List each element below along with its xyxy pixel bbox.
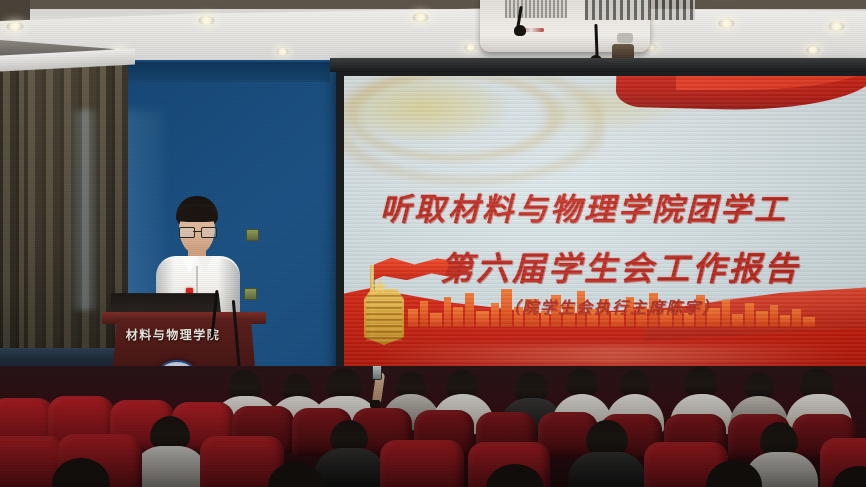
audience-shoulders <box>568 452 646 487</box>
downlight-icon <box>276 48 289 55</box>
downlight-icon <box>828 22 845 31</box>
auditorium-seat <box>380 440 464 487</box>
downlight-icon <box>464 44 477 51</box>
wall-outlet-plate <box>244 288 257 300</box>
downlight-icon <box>6 22 24 31</box>
slide-title-line-1: 听取材料与物理学院团学工 <box>380 184 788 229</box>
projection-screen: 听取材料与物理学院团学工 第六届学生会工作报告 （院学生会执行主席陈宇） <box>344 76 866 379</box>
smartphone <box>372 366 382 380</box>
cable-knob <box>514 25 526 36</box>
downlight-icon <box>806 46 820 54</box>
downlight-icon <box>412 13 429 22</box>
slide-subtitle-line: （院学生会执行主席陈宇） <box>504 294 720 318</box>
glasses-icon <box>179 227 215 236</box>
ceiling-sensor <box>617 33 633 43</box>
ceiling-dark-strip <box>0 0 866 9</box>
projector-grill <box>505 0 567 18</box>
wall-outlet-plate <box>246 229 259 241</box>
downlight-icon <box>198 16 215 25</box>
slide-text-block: 听取材料与物理学院团学工 第六届学生会工作报告 （院学生会执行主席陈宇） <box>344 76 866 379</box>
projector-vent <box>585 0 695 20</box>
downlight-icon <box>718 19 735 28</box>
curtain-light-gap <box>70 110 100 310</box>
wristwatch <box>370 400 380 408</box>
audience-shoulders <box>132 446 208 487</box>
podium-label: 材料与物理学院 <box>112 326 234 343</box>
projection-screen-top-bar <box>330 58 866 72</box>
audience-area <box>0 366 866 487</box>
slide-title-line-2: 第六届学生会工作报告 <box>440 242 800 290</box>
lecture-hall-photo: 听取材料与物理学院团学工 第六届学生会工作报告 （院学生会执行主席陈宇） 材料与… <box>0 0 866 487</box>
audience-shoulders <box>314 448 386 487</box>
